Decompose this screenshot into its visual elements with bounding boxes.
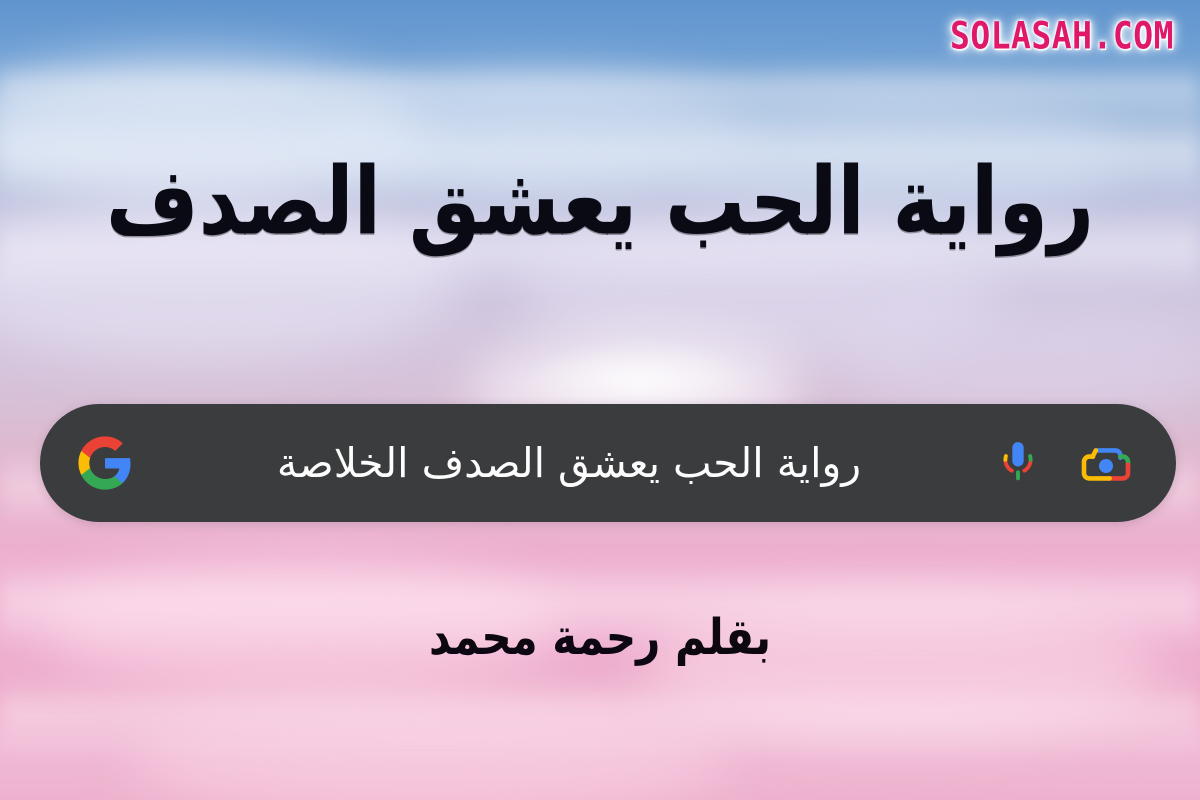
- google-lens-camera-icon[interactable]: [1080, 440, 1132, 486]
- microphone-icon[interactable]: [996, 437, 1040, 489]
- site-watermark: SOLASAH.COM: [950, 14, 1174, 58]
- poster-canvas: SOLASAH.COM رواية الحب يعشق الصدف رواية …: [0, 0, 1200, 800]
- page-title: رواية الحب يعشق الصدف: [0, 148, 1200, 256]
- google-search-bar[interactable]: رواية الحب يعشق الصدف الخلاصة: [40, 404, 1176, 522]
- google-g-icon: [76, 434, 134, 492]
- search-input[interactable]: رواية الحب يعشق الصدف الخلاصة: [134, 439, 992, 487]
- author-byline: بقلم رحمة محمد: [0, 608, 1200, 666]
